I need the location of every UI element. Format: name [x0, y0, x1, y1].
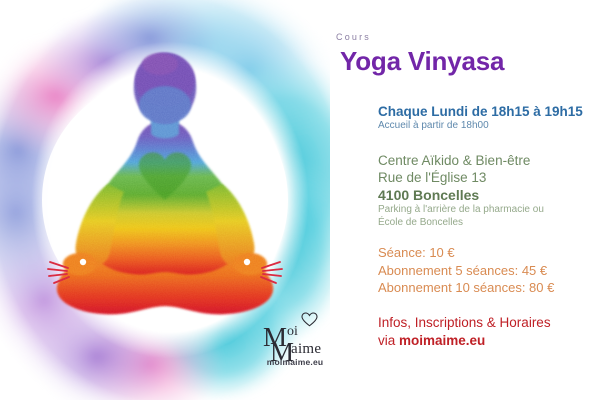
- schedule-main-line: Chaque Lundi de 18h15 à 19h15: [378, 104, 583, 120]
- price-pass-10: Abonnement 10 séances: 80 €: [378, 279, 554, 297]
- kicker-label: Cours: [336, 32, 371, 42]
- cta-website-link[interactable]: moimaime.eu: [399, 333, 485, 348]
- cta-headline: Infos, Inscriptions & Horaires: [378, 314, 551, 332]
- cta-block: Infos, Inscriptions & Horaires via moima…: [378, 314, 551, 350]
- page-title: Yoga Vinyasa: [340, 46, 504, 77]
- logo-wordmark: M oi M aime: [243, 320, 347, 362]
- venue-street: Rue de l'Église 13: [378, 169, 544, 186]
- venue-note-line-1: Parking à l'arrière de la pharmacie ou: [378, 204, 544, 217]
- venue-block: Centre Aïkido & Bien-être Rue de l'Églis…: [378, 152, 544, 229]
- venue-note-line-2: École de Boncelles: [378, 217, 544, 230]
- price-single-session: Séance: 10 €: [378, 244, 554, 262]
- logo-website-url[interactable]: moimaime.eu: [243, 357, 347, 367]
- logo-text-aime: aime: [291, 342, 321, 357]
- venue-name: Centre Aïkido & Bien-être: [378, 152, 544, 169]
- prices-block: Séance: 10 € Abonnement 5 séances: 45 € …: [378, 244, 554, 297]
- cta-via-label: via: [378, 333, 399, 348]
- cta-via-line: via moimaime.eu: [378, 332, 551, 350]
- schedule-note-line: Accueil à partir de 18h00: [378, 120, 583, 133]
- schedule-block: Chaque Lundi de 18h15 à 19h15 Accueil à …: [378, 104, 583, 133]
- poster-root: M oi M aime moimaime.eu Cours Yoga Vinya…: [0, 0, 600, 400]
- brand-logo[interactable]: M oi M aime moimaime.eu: [243, 312, 347, 380]
- venue-city: 4100 Boncelles: [378, 186, 544, 204]
- poster-text-column: Cours Yoga Vinyasa Chaque Lundi de 18h15…: [336, 0, 600, 400]
- price-pass-5: Abonnement 5 séances: 45 €: [378, 262, 554, 280]
